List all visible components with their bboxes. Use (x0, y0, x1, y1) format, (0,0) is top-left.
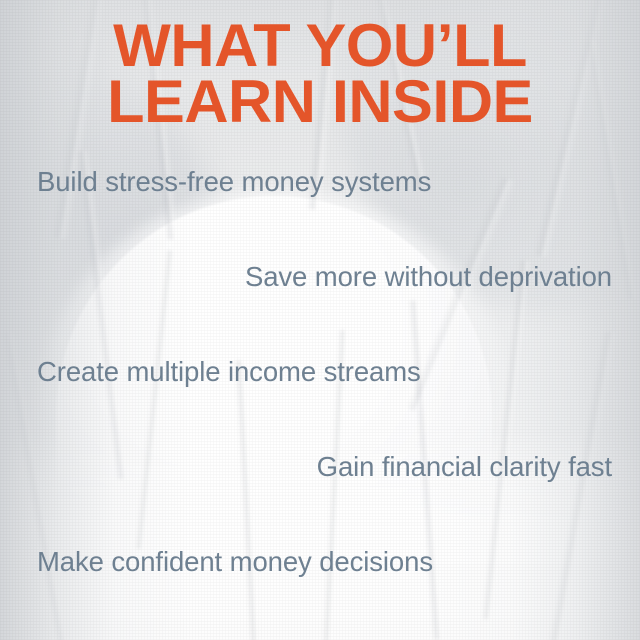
bullet-item-4: Gain financial clarity fast (317, 453, 612, 481)
bullet-item-5: Make confident money decisions (37, 548, 433, 576)
poster-content: WHAT YOU’LL LEARN INSIDE Build stress-fr… (0, 0, 640, 640)
poster-canvas: WHAT YOU’LL LEARN INSIDE Build stress-fr… (0, 0, 640, 640)
bullet-item-1: Build stress-free money systems (37, 168, 431, 196)
bullet-item-3: Create multiple income streams (37, 358, 421, 386)
headline-line-1: WHAT YOU’LL (0, 18, 640, 74)
bullet-list: Build stress-free money systems Save mor… (0, 150, 640, 600)
headline-line-2: LEARN INSIDE (0, 74, 640, 130)
headline: WHAT YOU’LL LEARN INSIDE (0, 18, 640, 130)
bullet-item-2: Save more without deprivation (245, 263, 612, 291)
